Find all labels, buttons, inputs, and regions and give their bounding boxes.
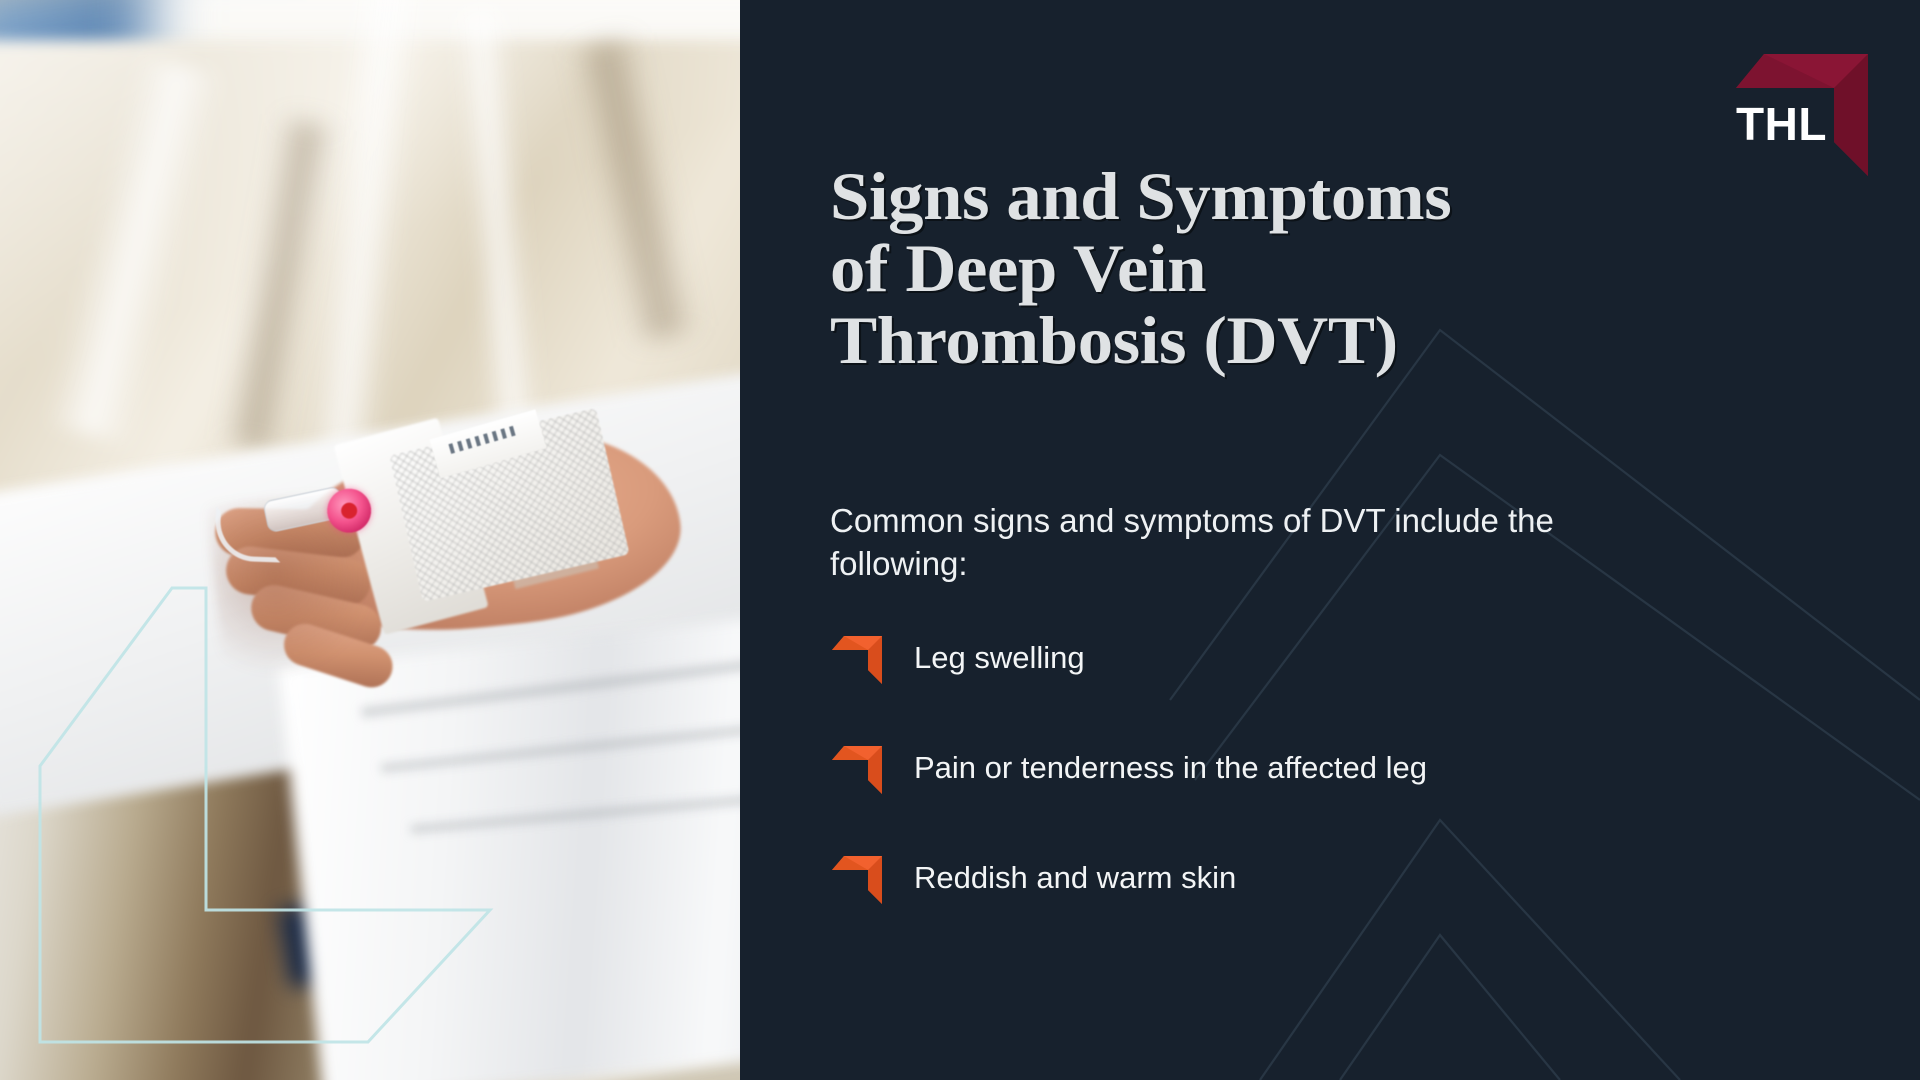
list-item: Pain or tenderness in the affected leg [830,740,1870,796]
list-item: Reddish and warm skin [830,850,1870,906]
headline-line-3: Thrombosis (DVT) [830,302,1398,378]
list-item: Leg swelling [830,630,1870,686]
content-panel: THL Signs and Symptoms of Deep Vein Thro… [740,0,1920,1080]
list-item-label: Pain or tenderness in the affected leg [914,749,1427,786]
chevron-arrow-bullet-icon [830,742,882,794]
subheading: Common signs and symptoms of DVT include… [830,500,1590,586]
chevron-arrow-bullet-icon [830,632,882,684]
logo-wordmark: THL [1736,98,1827,150]
symptom-list: Leg swelling Pain or tenderness in the a… [830,630,1870,960]
thl-logo[interactable]: THL [1722,36,1868,176]
infographic-canvas: THL Signs and Symptoms of Deep Vein Thro… [0,0,1920,1080]
list-item-label: Leg swelling [914,639,1085,676]
hospital-patient-photo [0,0,740,1080]
page-title: Signs and Symptoms of Deep Vein Thrombos… [830,160,1808,376]
list-item-label: Reddish and warm skin [914,859,1236,896]
headline-line-1: Signs and Symptoms [830,158,1451,234]
headline-line-2: of Deep Vein [830,230,1206,306]
chevron-arrow-bullet-icon [830,852,882,904]
patient-hand [201,406,710,755]
